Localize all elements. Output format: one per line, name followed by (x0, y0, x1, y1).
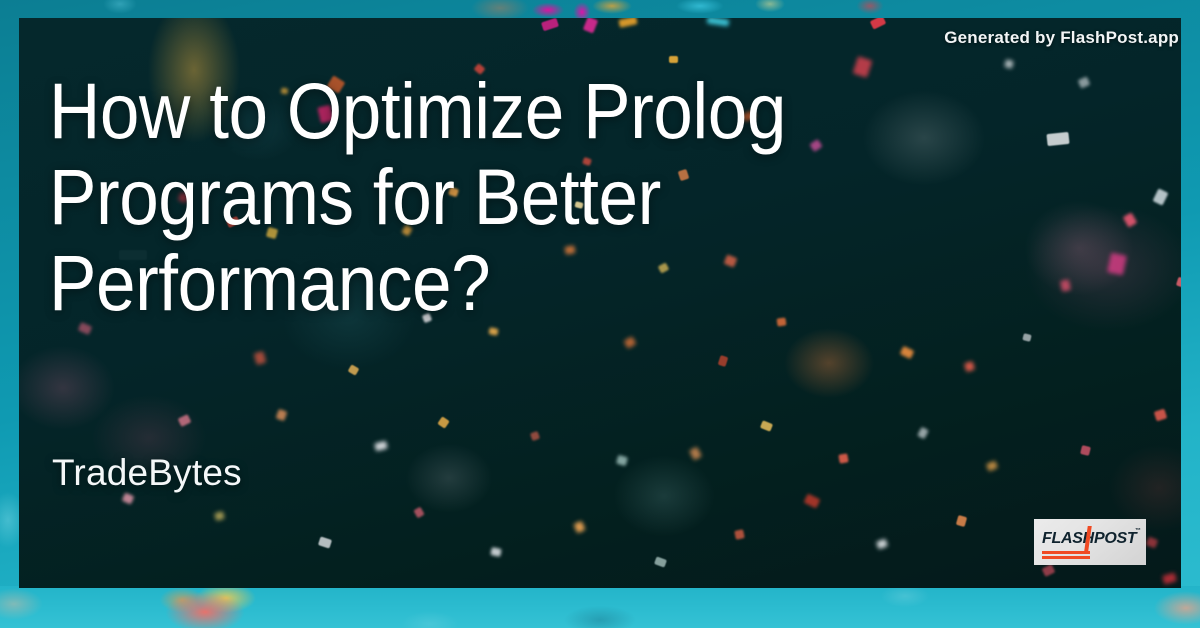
confetti-piece (1042, 564, 1056, 577)
confetti-piece (318, 536, 332, 548)
confetti-piece (437, 416, 449, 428)
confetti-piece (917, 427, 929, 440)
confetti-piece (900, 346, 915, 359)
confetti-piece (413, 507, 424, 519)
confetti-piece (1176, 277, 1181, 289)
confetti-piece (718, 355, 729, 367)
confetti-piece (1060, 279, 1071, 292)
confetti-piece (374, 441, 388, 452)
confetti-piece (1162, 572, 1177, 584)
confetti-piece (530, 431, 540, 441)
flashpost-logo-inner: FLASH POST ™ (1034, 519, 1146, 565)
confetti-piece (1004, 59, 1014, 69)
page-title: How to Optimize Prolog Programs for Bett… (49, 68, 859, 326)
confetti-piece (707, 18, 730, 26)
confetti-piece (122, 492, 135, 504)
social-share-card: Generated by FlashPost.app How to Optimi… (0, 0, 1200, 628)
confetti-piece (490, 547, 501, 557)
confetti-piece (276, 409, 288, 421)
flashpost-logo-speed-line-1 (1042, 551, 1090, 554)
confetti-piece (804, 493, 821, 508)
flashpost-logo[interactable]: FLASH POST ™ (1034, 519, 1146, 565)
confetti-piece (838, 453, 848, 463)
confetti-piece (488, 327, 498, 336)
confetti-piece (870, 18, 887, 30)
confetti-piece (986, 460, 998, 471)
generated-by-attribution: Generated by FlashPost.app (944, 28, 1179, 48)
confetti-piece (1078, 76, 1091, 88)
confetti-piece (964, 361, 975, 372)
confetti-piece (1022, 333, 1031, 342)
confetti-piece (178, 414, 192, 427)
flashpost-logo-trademark: ™ (1135, 528, 1141, 534)
confetti-piece (956, 515, 967, 527)
confetti-piece (618, 18, 637, 28)
byline-author: TradeBytes (52, 452, 242, 494)
confetti-piece (1080, 445, 1091, 456)
flashpost-logo-word-post: POST (1094, 530, 1136, 548)
confetti-piece (876, 539, 888, 550)
flashpost-logo-speed-line-2 (1042, 556, 1090, 559)
confetti-piece (1107, 253, 1127, 276)
confetti-piece (348, 364, 360, 375)
confetti-piece (541, 18, 559, 31)
confetti-piece (214, 511, 225, 521)
confetti-piece (616, 455, 628, 466)
confetti-piece (623, 336, 636, 349)
confetti-piece (583, 18, 598, 34)
confetti-frame-bottom-band (0, 586, 1200, 628)
confetti-piece (760, 420, 773, 432)
confetti-piece (573, 521, 585, 534)
confetti-piece (1123, 212, 1138, 227)
confetti-piece (1154, 409, 1168, 422)
confetti-piece (1152, 188, 1168, 205)
confetti-piece (669, 56, 678, 63)
confetti-piece (654, 556, 667, 567)
confetti-piece (689, 447, 702, 461)
confetti-piece (254, 351, 267, 365)
confetti-piece (734, 529, 745, 540)
confetti-piece (1146, 536, 1159, 548)
confetti-piece (1046, 132, 1069, 146)
